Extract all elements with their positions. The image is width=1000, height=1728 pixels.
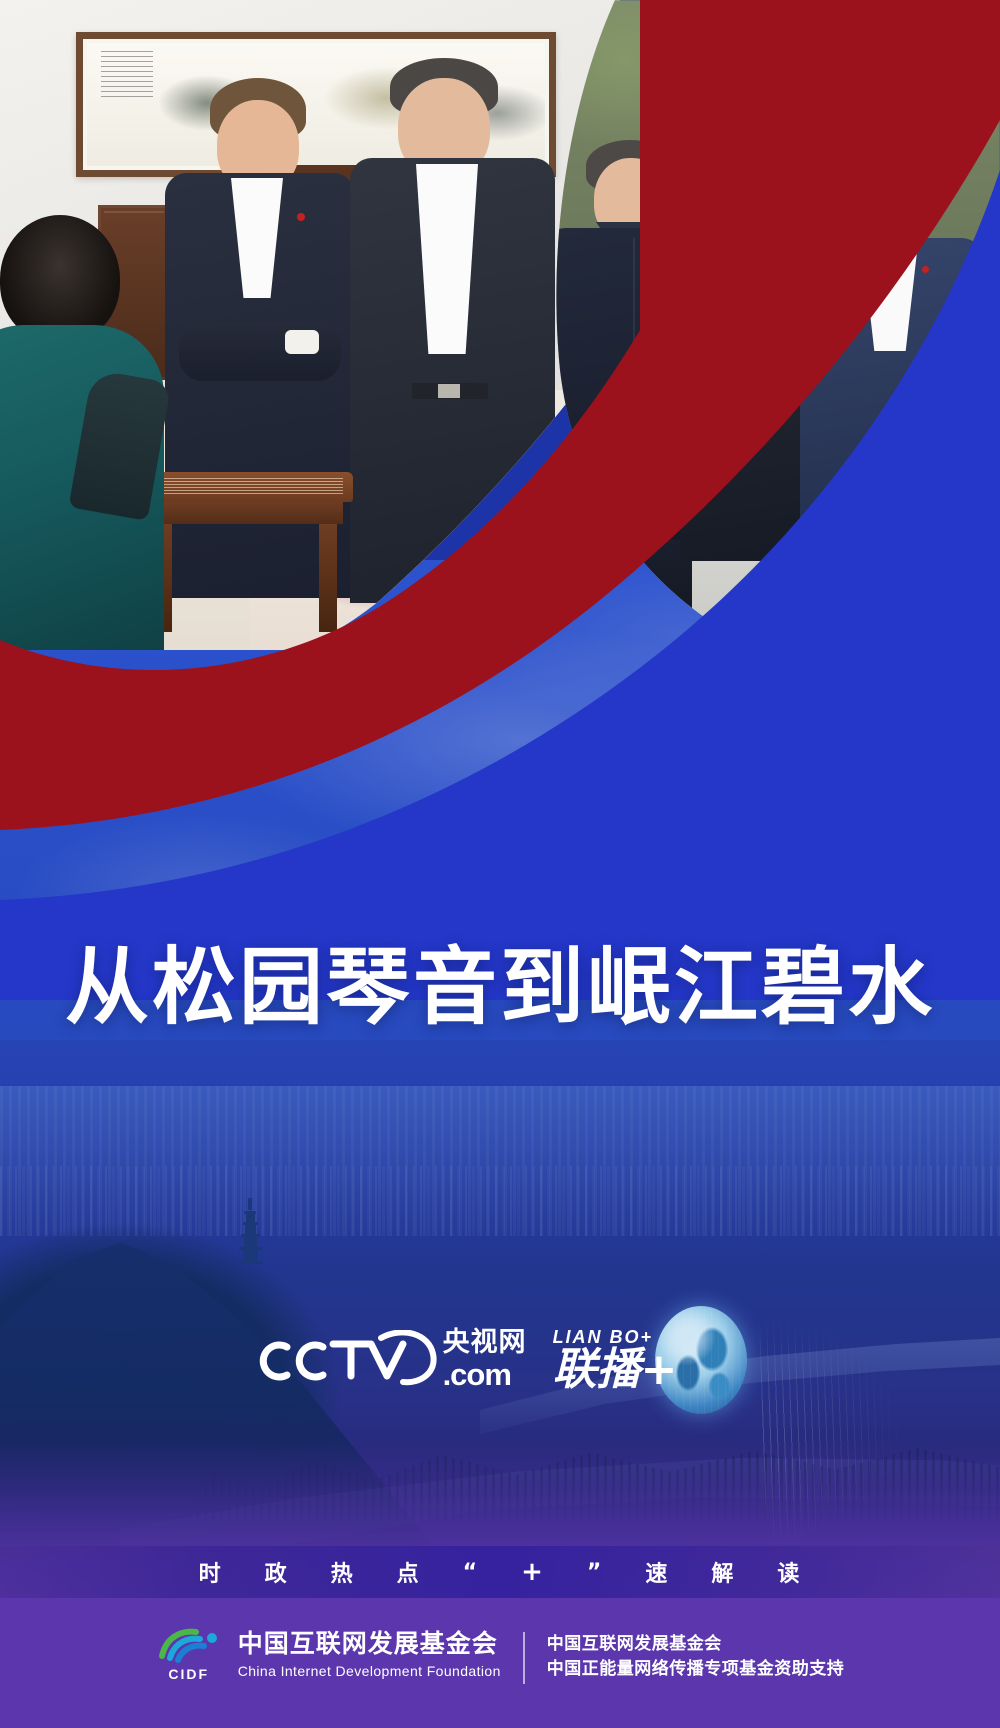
table-leg-right (319, 524, 337, 632)
slogan-quote-close: ” (587, 1560, 603, 1585)
slogan-plus: + (521, 1557, 545, 1587)
footer-credits: CIDF 中国互联网发展基金会 China Internet Developme… (0, 1618, 1000, 1728)
cidf-abbr-label: CIDF (156, 1666, 222, 1682)
slogan-char-2: 热 (331, 1556, 355, 1588)
support-line-2: 中国正能量网络传播专项基金资助支持 (547, 1657, 845, 1682)
figure-guqin-player (0, 215, 165, 650)
poster-root: 从松园琴音到岷江碧水 央视网 .com LIAN BO+ (0, 0, 1000, 1728)
photo-left-guqin-meeting (0, 0, 620, 650)
slogan-char-0: 时 (199, 1556, 223, 1588)
guqin-strings (148, 478, 343, 494)
coat-shape (680, 261, 820, 561)
cctv-wordmark-icon (253, 1330, 443, 1392)
cctv-logo[interactable]: 央视网 .com (253, 1329, 527, 1392)
guqin-table (138, 472, 353, 632)
page-title: 从松园琴音到岷江碧水 (0, 942, 1000, 1033)
face-shape (716, 181, 780, 255)
shoe-right (904, 640, 958, 658)
slogan-char-4: 速 (645, 1556, 669, 1588)
shoe-left (826, 646, 878, 660)
foundation-name-en: China Internet Development Foundation (238, 1661, 501, 1682)
lapel-pin-icon (297, 213, 305, 221)
lapel-pin-icon (922, 266, 929, 273)
foundation-names: 中国互联网发展基金会 China Internet Development Fo… (238, 1626, 501, 1682)
slogan-text: 时 政 热 点 “ + ” 速 解 读 (199, 1556, 802, 1588)
hair-shape (0, 215, 120, 343)
slogan-char-1: 政 (265, 1556, 289, 1588)
cctv-chinese-label: 央视网 (443, 1329, 527, 1356)
support-credits: 中国互联网发展基金会 中国正能量网络传播专项基金资助支持 (547, 1626, 845, 1681)
lianbo-text: LIAN BO+ 联播+ (553, 1328, 678, 1392)
figure-xi-left (350, 58, 555, 603)
slogan-char-5: 解 (711, 1556, 735, 1588)
branding-logo-row: 央视网 .com LIAN BO+ 联播+ (0, 1300, 1000, 1420)
figure-macron-right (800, 148, 985, 660)
hair-shape (993, 185, 1000, 229)
shirt-cuff (285, 330, 319, 354)
pagoda-icon (237, 1198, 263, 1282)
lianbo-logo[interactable]: LIAN BO+ 联播+ (553, 1306, 748, 1414)
cctv-dotcom-label: .com (443, 1359, 511, 1390)
cidf-logo-icon: CIDF (156, 1626, 222, 1678)
lianbo-chinese-label: 联播+ (553, 1348, 678, 1392)
table-apron (148, 502, 343, 524)
footer-divider (523, 1632, 525, 1684)
support-line-1: 中国互联网发展基金会 (547, 1632, 845, 1657)
slogan-char-6: 读 (777, 1556, 801, 1588)
slogan-bar: 时 政 热 点 “ + ” 速 解 读 (0, 1546, 1000, 1598)
slogan-quote-open: “ (463, 1560, 479, 1585)
cctv-labels: 央视网 .com (443, 1329, 527, 1390)
belt-buckle (438, 384, 460, 398)
foundation-name-cn: 中国互联网发展基金会 (238, 1630, 501, 1659)
slogan-char-3: 点 (397, 1556, 421, 1588)
figure-interpreter (680, 165, 820, 635)
